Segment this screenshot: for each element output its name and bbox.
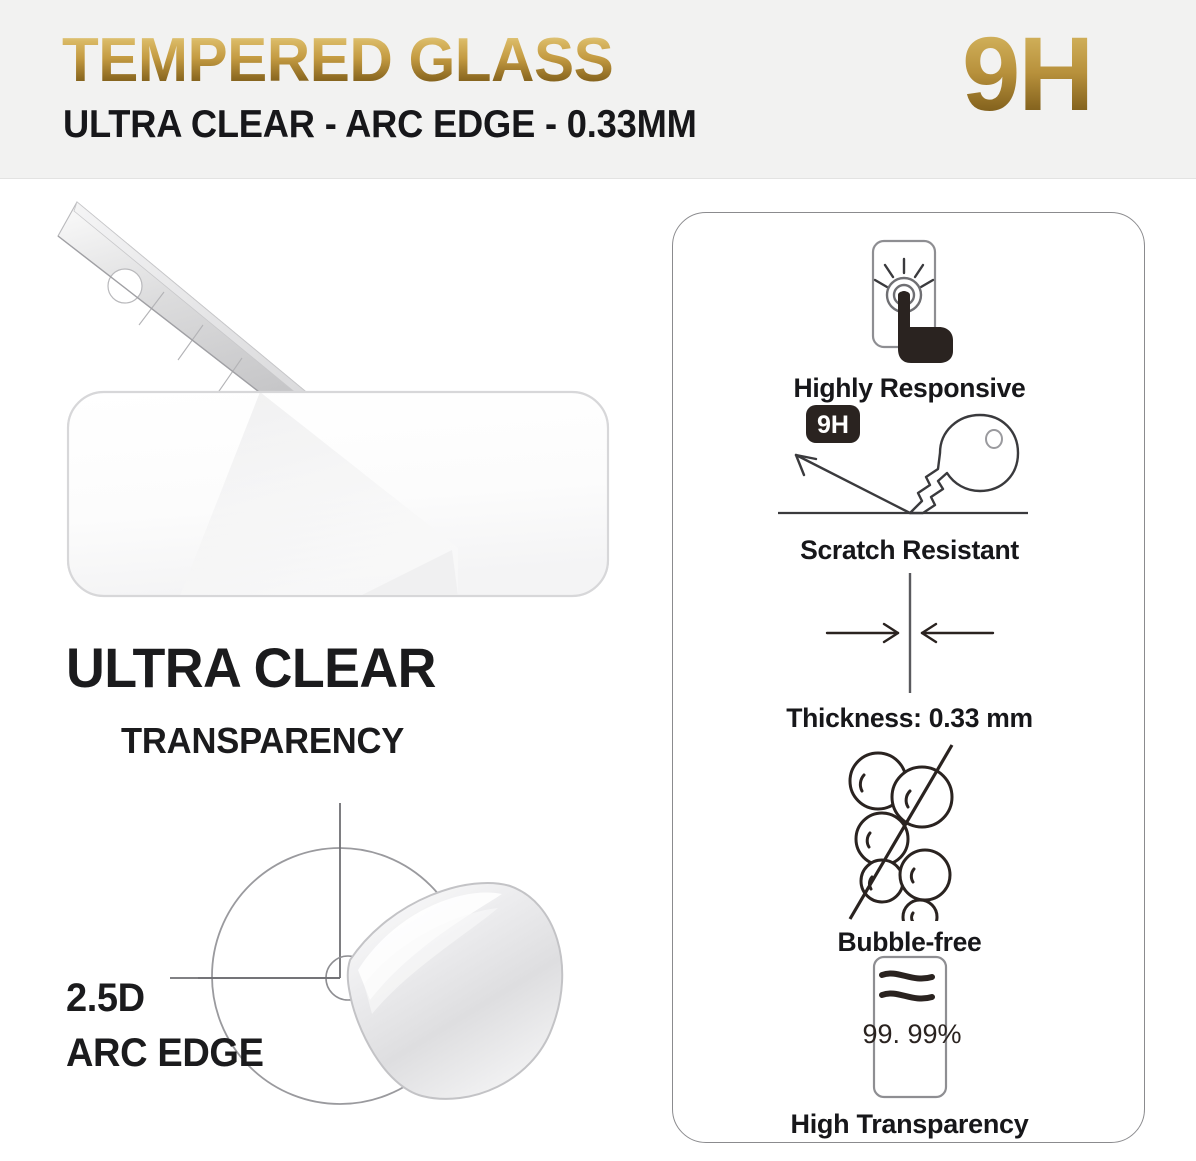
arc-edge-illustration [40, 778, 640, 1128]
feature-highly-responsive: Highly Responsive [673, 235, 1146, 402]
page-title: TEMPERED GLASS [62, 30, 613, 92]
key-scratch-icon: 9H [760, 401, 1060, 529]
arc-edge-label-line1: 2.5D [66, 978, 145, 1018]
arc-leader-line [40, 778, 640, 1128]
feature-label: High Transparency [673, 1111, 1146, 1138]
glass-sheet-illustration [60, 378, 620, 608]
feature-label: Highly Responsive [673, 375, 1146, 402]
header-bar: TEMPERED GLASS ULTRA CLEAR - ARC EDGE - … [0, 0, 1196, 179]
feature-high-transparency: 99. 99% High Transparency [673, 953, 1146, 1138]
badge-9h-text: 9H [817, 411, 849, 439]
transparency-phone-icon: 99. 99% [850, 953, 970, 1103]
touch-screen-finger-icon [835, 235, 985, 367]
hardness-badge-9h: 9H [962, 22, 1092, 127]
thickness-arrows-icon [795, 569, 1025, 697]
infographic-page: TEMPERED GLASS ULTRA CLEAR - ARC EDGE - … [0, 0, 1196, 1161]
tempered-glass-sheet-icon [60, 378, 620, 608]
transparency-subheadline: TRANSPARENCY [121, 723, 404, 759]
page-subtitle: ULTRA CLEAR - ARC EDGE - 0.33MM [63, 105, 697, 144]
arc-edge-label-line2: ARC EDGE [66, 1033, 264, 1073]
feature-thickness: Thickness: 0.33 mm [673, 569, 1146, 732]
feature-label: Thickness: 0.33 mm [673, 705, 1146, 732]
features-panel: Highly Responsive 9H Scr [672, 212, 1145, 1143]
feature-label: Scratch Resistant [673, 537, 1146, 564]
left-panel: ULTRA CLEAR TRANSPARENCY [0, 178, 660, 1161]
feature-label: Bubble-free [673, 929, 1146, 956]
transparency-value: 99. 99% [862, 1019, 961, 1049]
feature-scratch-resistant: 9H Scratch Resistant [673, 401, 1146, 564]
ultra-clear-headline: ULTRA CLEAR [66, 640, 436, 696]
feature-bubble-free: Bubble-free [673, 741, 1146, 956]
bubbles-crossed-icon [820, 741, 1000, 921]
